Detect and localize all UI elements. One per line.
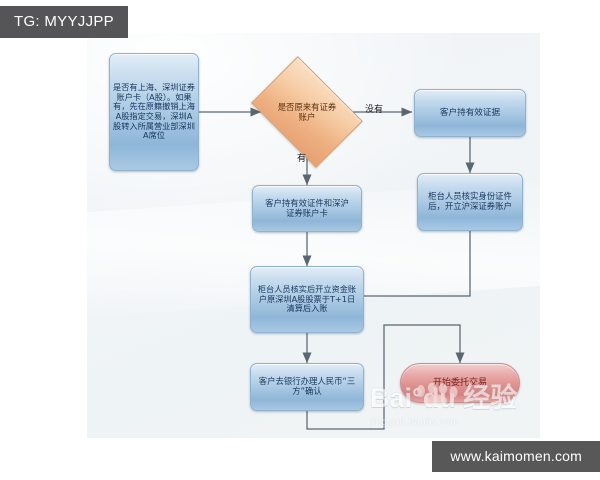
node-n3-label: 客户持有效证件和深沪证券账户卡 xyxy=(258,199,356,219)
node-decision-label: 是否原来有证券账户 xyxy=(275,102,339,122)
node-n7-start-trading[interactable]: 开始委托交易 xyxy=(400,363,520,403)
node-n2[interactable]: 客户持有效证据 xyxy=(414,89,526,137)
node-decision-has-account[interactable]: 是否原来有证券账户 xyxy=(261,79,353,145)
screenshot-root: TG: MYYJJPP xyxy=(0,0,600,480)
node-n2-label: 客户持有效证据 xyxy=(437,108,503,118)
node-n1[interactable]: 是否有上海、深圳证券账户卡（A股）。如果有，先在原籍撤销上海A股指定交易，深圳A… xyxy=(109,53,199,171)
edge-label-yes: 有 xyxy=(297,151,306,164)
node-n3[interactable]: 客户持有效证件和深沪证券账户卡 xyxy=(252,185,362,232)
node-n7-label: 开始委托交易 xyxy=(430,378,490,389)
node-n1-label: 是否有上海、深圳证券账户卡（A股）。如果有，先在原籍撤销上海A股指定交易，深圳A… xyxy=(110,83,198,141)
node-n5[interactable]: 柜台人员核实后开立资金账户原深圳A股股票于T+1日清算后入账 xyxy=(250,266,364,333)
node-n5-label: 柜台人员核实后开立资金账户原深圳A股股票于T+1日清算后入账 xyxy=(252,285,362,314)
edge-label-no: 没有 xyxy=(365,102,383,115)
tg-tag-badge: TG: MYYJJPP xyxy=(0,6,128,38)
node-n6[interactable]: 客户去银行办理人民币“三方”确认 xyxy=(250,363,364,411)
node-n6-label: 客户去银行办理人民币“三方”确认 xyxy=(254,377,360,397)
site-url-bar: www.kaimomen.com xyxy=(432,441,600,472)
node-n4[interactable]: 柜台人员核实身份证件后，开立沪深证券账户 xyxy=(417,173,523,231)
baidu-site-text: jingyan.baidu.com xyxy=(370,417,540,428)
node-n4-label: 柜台人员核实身份证件后，开立沪深证券账户 xyxy=(421,192,519,212)
flowchart-canvas: 是否有上海、深圳证券账户卡（A股）。如果有，先在原籍撤销上海A股指定交易，深圳A… xyxy=(87,33,540,438)
